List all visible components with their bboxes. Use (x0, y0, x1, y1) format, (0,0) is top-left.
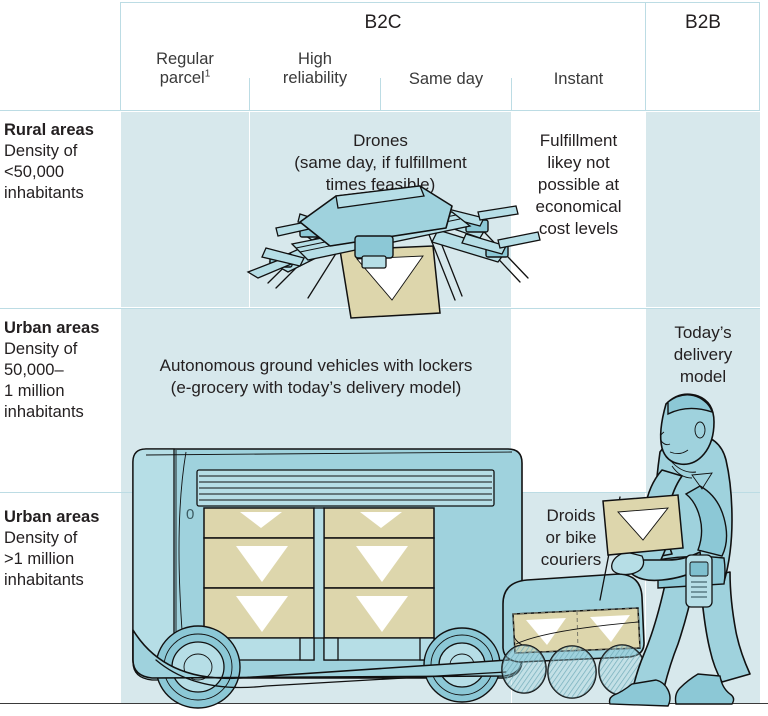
caption-drones-l3: times feasible) (326, 175, 436, 194)
row-label-urban-large: Urban areas Density of >1 million inhabi… (4, 507, 116, 591)
row-label-rural-l3: inhabitants (4, 184, 84, 202)
caption-droids-l2: or bike (545, 528, 596, 547)
cell-urbanmid-b2c-left (121, 309, 511, 492)
cell-rural-regular-parcel (121, 112, 249, 307)
row-label-urban-mid-l1: Density of (4, 340, 77, 358)
row-label-urban-large-l2: >1 million (4, 550, 74, 568)
row-label-urban-large-l1: Density of (4, 529, 77, 547)
caption-droids-l1: Droids (546, 506, 595, 525)
row-label-urban-large-title: Urban areas (4, 507, 116, 528)
row-label-urban-mid-l3: 1 million (4, 382, 65, 400)
gridline-h-headerbottom (0, 110, 760, 111)
header-col-high-reliability-line2: reliability (283, 69, 347, 87)
caption-drones-l2: (same day, if fulfillment (294, 153, 467, 172)
caption-fulfillment-l2: likey not (547, 153, 609, 172)
caption-today-model: Today’s delivery model (646, 322, 760, 388)
row-label-rural-title: Rural areas (4, 120, 116, 141)
row-label-urban-mid-l4: inhabitants (4, 403, 84, 421)
header-col-regular-parcel-line1: Regular (156, 50, 214, 68)
caption-fulfillment-l4: economical (536, 197, 622, 216)
row-label-urban-mid: Urban areas Density of 50,000– 1 million… (4, 318, 116, 423)
cell-rural-b2b (646, 112, 760, 307)
header-group-b2b: B2B (646, 12, 760, 34)
caption-today-l3: model (680, 367, 726, 386)
row-label-urban-mid-l2: 50,000– (4, 361, 64, 379)
caption-agv-l1: Autonomous ground vehicles with lockers (160, 356, 473, 375)
gridline-h-row2 (0, 492, 760, 493)
caption-drones: Drones (same day, if fulfillment times f… (250, 130, 511, 196)
header-col-high-reliability: High reliability (250, 50, 380, 88)
caption-today-l2: delivery (674, 345, 733, 364)
cell-urbanlarge-b2c-left (121, 493, 511, 703)
row-label-rural-l2: <50,000 (4, 163, 64, 181)
row-label-urban-mid-title: Urban areas (4, 318, 116, 339)
header-col-high-reliability-line1: High (298, 50, 332, 68)
caption-droids: Droids or bike couriers (512, 505, 630, 571)
row-label-urban-large-l3: inhabitants (4, 571, 84, 589)
ground-line (0, 703, 768, 704)
exhibit-matrix: B2C B2B Regular parcel1 High reliability… (0, 0, 768, 716)
row-label-rural-l1: Density of (4, 142, 77, 160)
caption-fulfillment: Fulfillment likey not possible at econom… (512, 130, 645, 240)
caption-fulfillment-l5: cost levels (539, 219, 618, 238)
header-col-regular-parcel-line2: parcel (160, 69, 205, 87)
header-group-b2c: B2C (121, 12, 645, 34)
header-col-instant-line1: Instant (554, 70, 604, 88)
row-label-rural: Rural areas Density of <50,000 inhabitan… (4, 120, 116, 204)
caption-fulfillment-l1: Fulfillment (540, 131, 617, 150)
header-col-instant: Instant (512, 70, 645, 89)
caption-agv-l2: (e-grocery with today’s delivery model) (171, 378, 462, 397)
header-col-same-day-line1: Same day (409, 70, 483, 88)
header-col-regular-parcel: Regular parcel1 (121, 50, 249, 88)
header-col-same-day: Same day (381, 70, 511, 89)
caption-drones-l1: Drones (353, 131, 408, 150)
caption-fulfillment-l3: possible at (538, 175, 619, 194)
cell-urbanmid-instant (512, 309, 645, 492)
caption-agv: Autonomous ground vehicles with lockers … (121, 355, 511, 399)
gridline-h-row1 (0, 308, 760, 309)
footnote-marker-1: 1 (205, 69, 211, 80)
caption-today-l1: Today’s (674, 323, 731, 342)
caption-droids-l3: couriers (541, 550, 601, 569)
gridline-h-top (120, 2, 760, 3)
cell-urbanlarge-b2b (646, 493, 760, 703)
